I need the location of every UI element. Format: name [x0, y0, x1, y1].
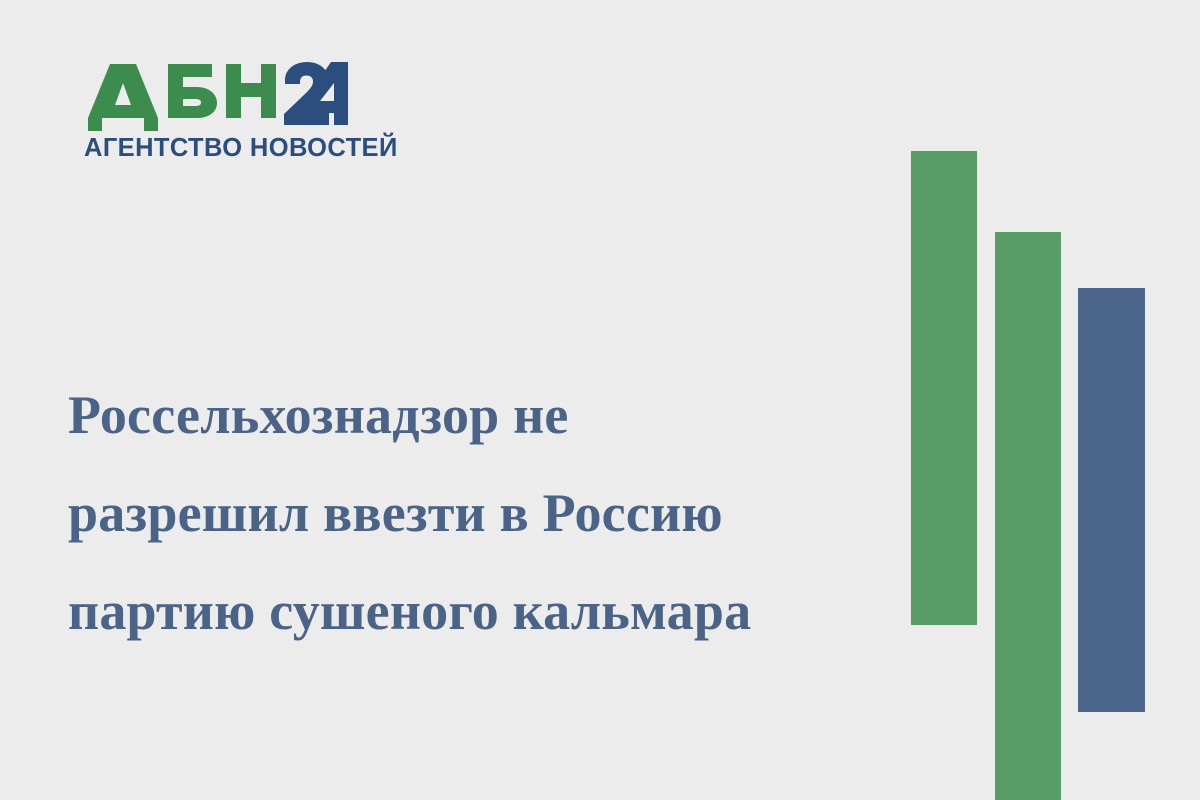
headline-title: Россельхознадзор не разрешил ввезти в Ро…: [68, 366, 888, 660]
chart-bar-3: [1078, 288, 1145, 712]
chart-bar-1: [911, 151, 977, 625]
headline-line-3: партию сушеного кальмара: [68, 562, 888, 660]
logo-tagline: АГЕНТСТВО НОВОСТЕЙ: [84, 136, 374, 162]
headline-line-1: Россельхознадзор не: [68, 366, 888, 464]
headline-line-2: разрешил ввезти в Россию: [68, 464, 888, 562]
chart-bar-2: [995, 232, 1061, 800]
logo-wordmark-icon: [84, 60, 352, 132]
brand-logo[interactable]: АГЕНТСТВО НОВОСТЕЙ: [84, 60, 374, 162]
news-card: АГЕНТСТВО НОВОСТЕЙ Россельхознадзор не р…: [0, 0, 1200, 800]
